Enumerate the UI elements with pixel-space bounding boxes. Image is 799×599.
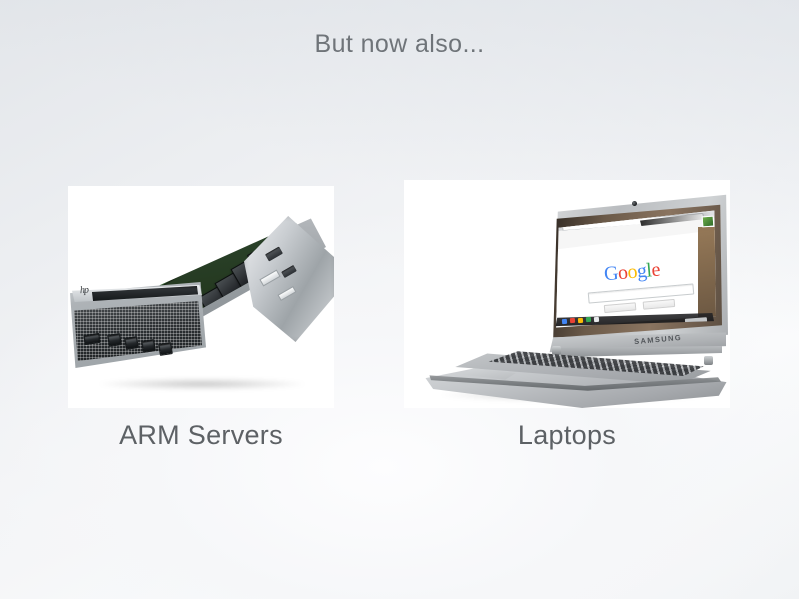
google-search-input[interactable]: [588, 283, 695, 303]
chromebook-illustration: Google: [404, 180, 730, 408]
server-network-port: [141, 339, 156, 353]
server-rail-slot: [265, 247, 283, 262]
arm-server-illustration: hp: [68, 186, 334, 408]
shelf-app-icon[interactable]: [594, 317, 599, 322]
shelf-app-icon[interactable]: [578, 318, 583, 323]
server-node-cap: [156, 247, 176, 267]
server-node-cap: [144, 259, 164, 279]
shelf-app-icon[interactable]: [562, 319, 567, 324]
arm-server-photo: hp: [68, 186, 334, 408]
server-network-port: [124, 336, 139, 350]
server-node-cap: [168, 236, 188, 256]
server-network-port: [107, 333, 122, 347]
photo-card-arm-servers[interactable]: hp: [68, 186, 334, 408]
slide: But now also...: [0, 0, 799, 599]
laptop-hinge-knuckle: [704, 356, 713, 365]
photo-card-laptops[interactable]: Google: [404, 180, 730, 408]
google-search-button[interactable]: [604, 302, 637, 313]
page-thumbnail-image: [702, 216, 715, 228]
server-rail-slot: [281, 265, 297, 278]
caption-arm-servers: ARM Servers: [68, 420, 334, 451]
laptop-photo: Google: [404, 180, 730, 408]
laptop-hinge-knuckle: [552, 346, 561, 355]
feeling-lucky-button[interactable]: [643, 299, 676, 310]
hp-logo-icon: hp: [77, 286, 92, 297]
shelf-app-icon[interactable]: [570, 318, 575, 323]
caption-laptops: Laptops: [404, 420, 730, 451]
server-rail-label: [259, 270, 280, 287]
server-rail-label: [277, 286, 296, 301]
shelf-app-icon[interactable]: [586, 317, 591, 322]
server-side-rail: [244, 216, 334, 342]
server-network-port: [158, 342, 173, 356]
google-logo-icon: Google: [603, 260, 660, 285]
page-title: But now also...: [0, 30, 799, 59]
